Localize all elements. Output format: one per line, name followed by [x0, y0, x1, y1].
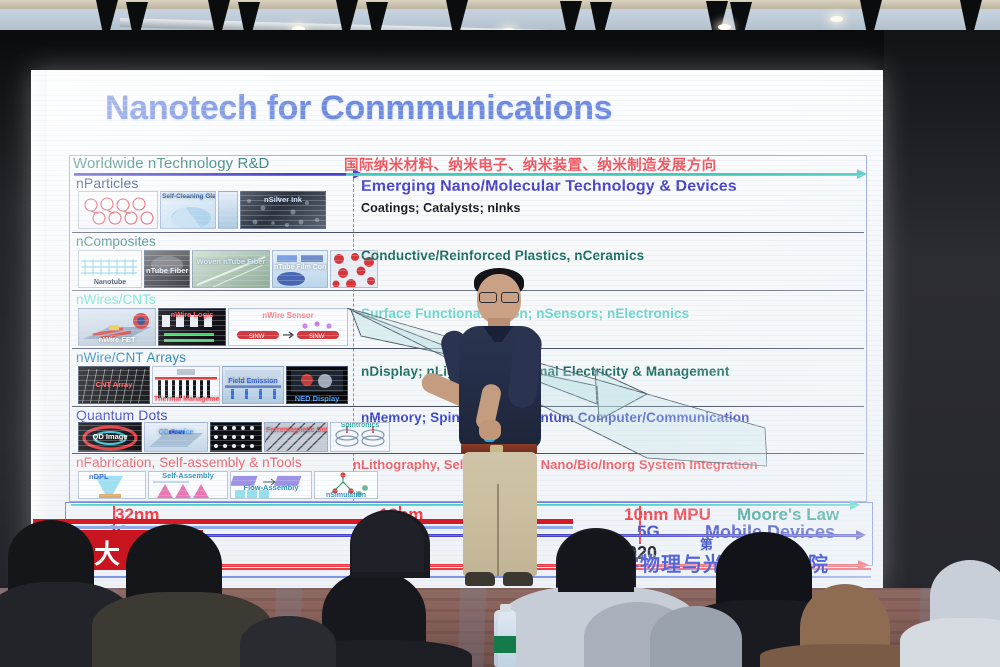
speaker-trouser-seam [497, 484, 499, 576]
speaker-presenter [443, 268, 563, 590]
back-wall-right [884, 30, 1000, 610]
speaker-hand [479, 420, 501, 440]
audience-body [900, 618, 1000, 667]
water-bottle-label [494, 636, 516, 653]
audience-head [650, 606, 742, 667]
ceiling-downlight [830, 16, 843, 22]
speaker-trousers [463, 452, 537, 576]
speaker-shoe-right [503, 572, 533, 586]
water-bottle-cap [500, 604, 511, 612]
speaker-glasses [479, 292, 519, 301]
audience-head [240, 616, 336, 667]
ceiling-strip [0, 0, 1000, 9]
audience-head [352, 512, 424, 572]
audience-head [558, 530, 634, 592]
conference-photo-scene: Nanotech for Conmmunications Worldwide n… [0, 0, 1000, 667]
speaker-shoe-left [465, 572, 495, 586]
